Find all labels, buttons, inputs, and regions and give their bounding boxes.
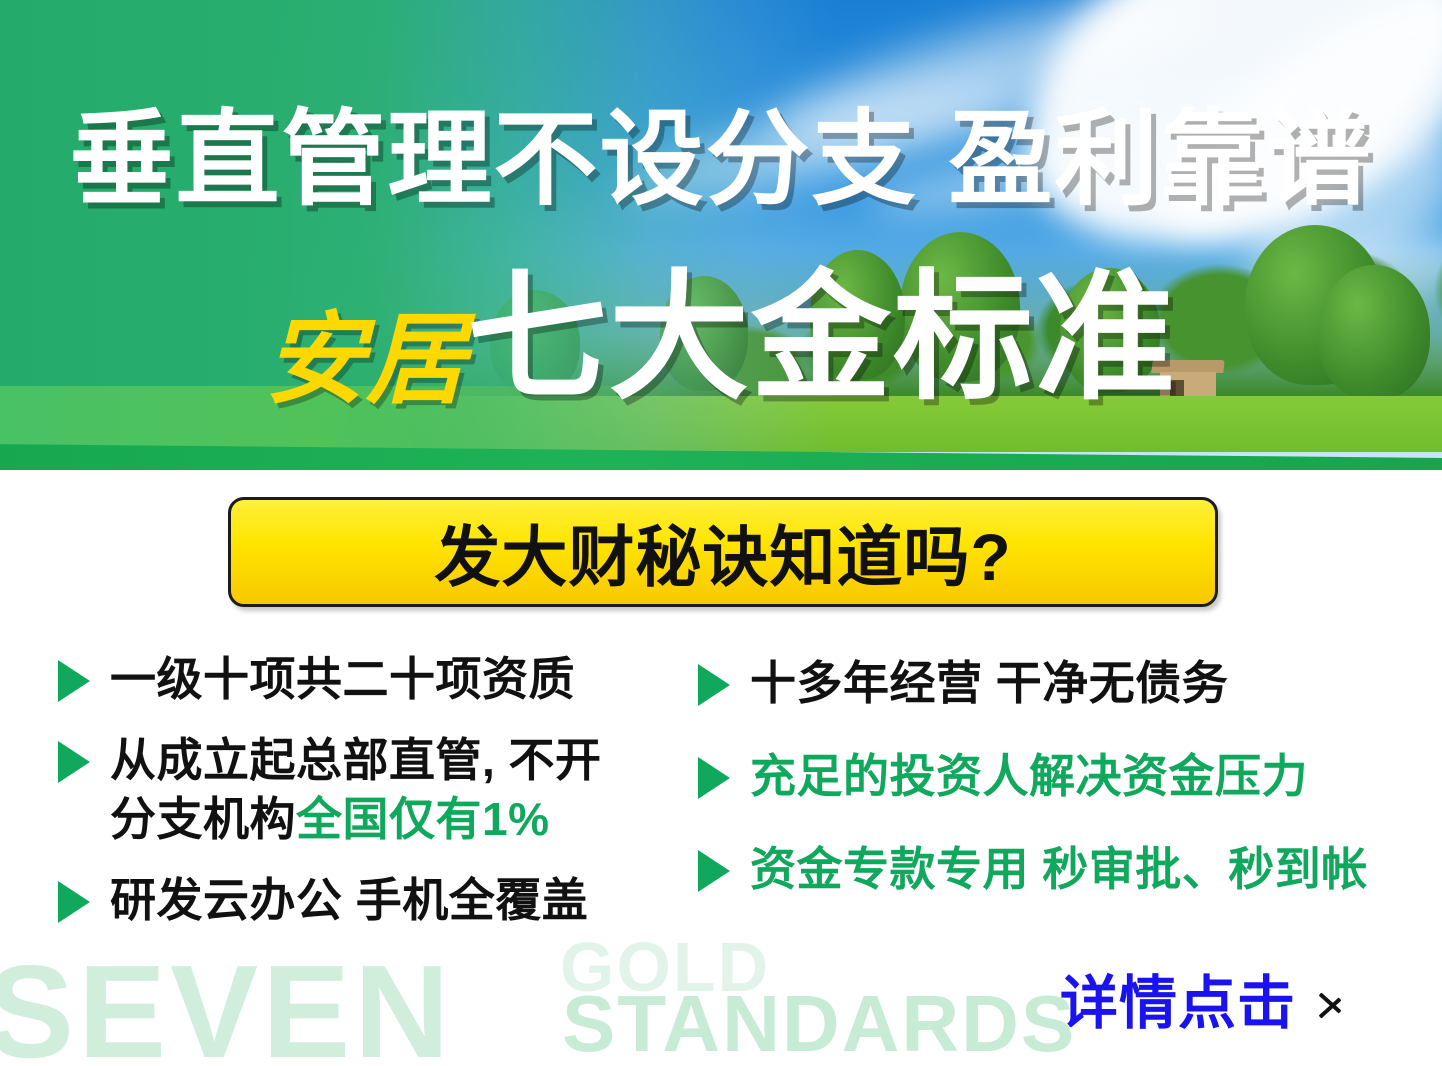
hero-headline: 垂直管理不设分支 盈利靠谱 <box>0 108 1442 212</box>
feature-line-1: 从成立起总部直管, 不开 <box>110 734 602 786</box>
details-link-label: 详情点击 <box>1060 975 1296 1033</box>
feature-item: 十多年经营 干净无债务 <box>698 654 1398 713</box>
feature-line-2-prefix: 分支机构 <box>110 793 296 845</box>
hero-section: 垂直管理不设分支 盈利靠谱 安居七大金标准 <box>0 0 1442 470</box>
feature-line-2-highlight: 全国仅有1% <box>296 793 549 845</box>
feature-list: 一级十项共二十项资质 从成立起总部直管, 不开 分支机构全国仅有1% 研发云办公… <box>0 650 1442 980</box>
feature-item: 资金专款专用 秒审批、秒到帐 <box>698 840 1398 899</box>
feature-column-right: 十多年经营 干净无债务 充足的投资人解决资金压力 资金专款专用 秒审批、秒到帐 <box>698 654 1398 933</box>
feature-item-label: 研发云办公 手机全覆盖 <box>110 871 588 930</box>
triangle-bullet-icon <box>58 660 90 702</box>
triangle-bullet-icon <box>698 664 730 706</box>
chevron-right-icon <box>1318 981 1344 1027</box>
highlight-question-box[interactable]: 发大财秘诀知道吗? <box>228 497 1218 607</box>
brand-name: 安居 <box>265 304 467 416</box>
triangle-bullet-icon <box>698 850 730 892</box>
watermark-standards: STANDARDS <box>562 984 1076 1064</box>
feature-item-label: 一级十项共二十项资质 <box>110 650 575 709</box>
hero-subline: 安居七大金标准 <box>0 268 1442 410</box>
feature-item: 研发云办公 手机全覆盖 <box>58 871 698 930</box>
feature-item: 充足的投资人解决资金压力 <box>698 747 1398 806</box>
feature-item: 从成立起总部直管, 不开 分支机构全国仅有1% <box>58 731 698 849</box>
promo-banner: 垂直管理不设分支 盈利靠谱 安居七大金标准 发大财秘诀知道吗? SEVEN GO… <box>0 0 1442 1066</box>
triangle-bullet-icon <box>698 757 730 799</box>
details-link[interactable]: 详情点击 <box>1060 975 1344 1033</box>
feature-item-label: 充足的投资人解决资金压力 <box>750 747 1308 806</box>
highlight-question-text: 发大财秘诀知道吗? <box>434 504 1011 600</box>
triangle-bullet-icon <box>58 881 90 923</box>
triangle-bullet-icon <box>58 741 90 783</box>
feature-item-label: 从成立起总部直管, 不开 分支机构全国仅有1% <box>110 731 602 849</box>
feature-column-left: 一级十项共二十项资质 从成立起总部直管, 不开 分支机构全国仅有1% 研发云办公… <box>58 650 698 952</box>
feature-item-label: 十多年经营 干净无债务 <box>750 654 1228 713</box>
feature-item: 一级十项共二十项资质 <box>58 650 698 709</box>
feature-item-label: 资金专款专用 秒审批、秒到帐 <box>750 840 1368 899</box>
hero-subline-text: 七大金标准 <box>467 259 1177 416</box>
